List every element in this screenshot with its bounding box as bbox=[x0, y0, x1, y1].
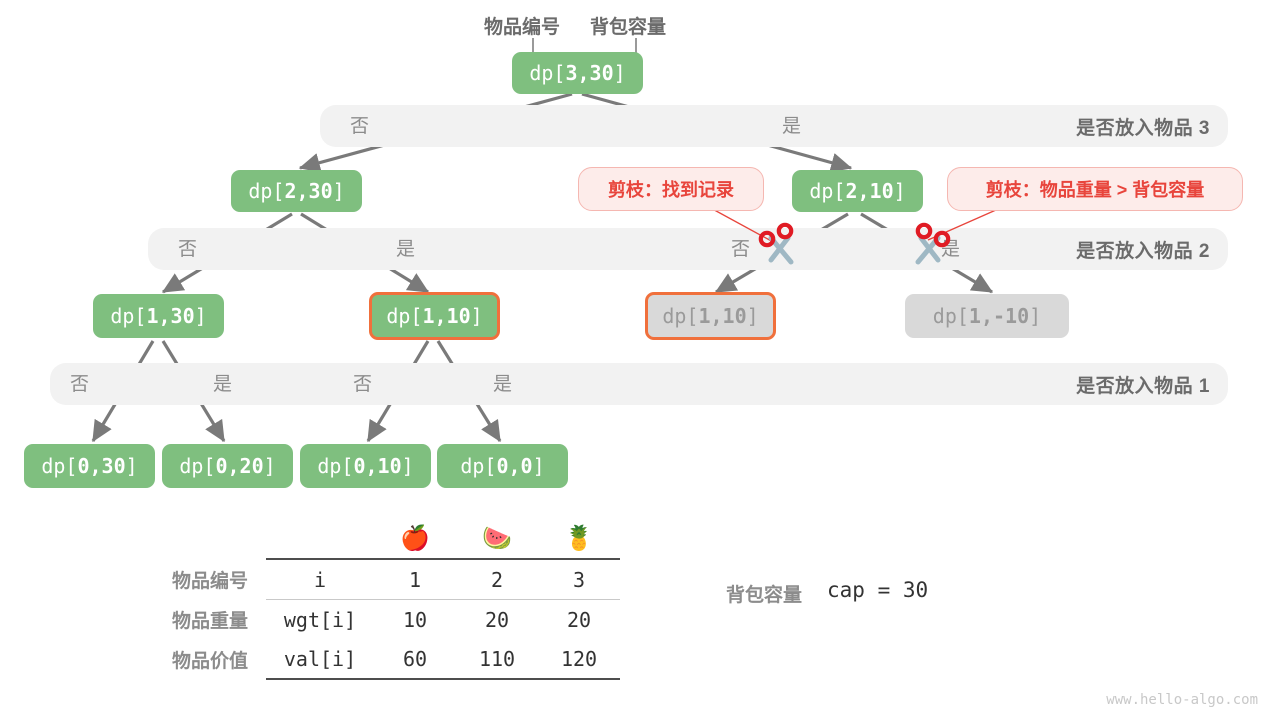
capacity-label: 背包容量 bbox=[726, 580, 802, 607]
node-label: dp[ bbox=[529, 61, 565, 85]
callout-text: 剪枝：物品重量 > 背包容量 bbox=[986, 176, 1205, 202]
node-value: 1,-10 bbox=[969, 304, 1029, 328]
node-dp-0-0[interactable]: dp[0,0] bbox=[437, 444, 568, 488]
node-label-end: ] bbox=[402, 454, 414, 478]
node-label-end: ] bbox=[614, 61, 626, 85]
node-label-end: ] bbox=[264, 454, 276, 478]
branch-label-yes: 是 bbox=[782, 117, 801, 136]
annotation-bag-capacity: 背包容量 bbox=[590, 12, 666, 39]
node-value: 0,30 bbox=[77, 454, 125, 478]
cell: 1 bbox=[374, 559, 456, 600]
branch-label-no: 否 bbox=[70, 375, 89, 394]
callout-text: 剪枝：找到记录 bbox=[608, 176, 734, 202]
node-label-end: ] bbox=[195, 304, 207, 328]
diagram-canvas: 否 是 是否放入物品 3 否 是 否 是 是否放入物品 2 否 是 否 是 是否… bbox=[0, 0, 1280, 720]
scissors-icon-right bbox=[906, 222, 952, 270]
row-header-item-weight: 物品重量 bbox=[172, 600, 266, 640]
node-label: dp[ bbox=[110, 304, 146, 328]
node-label-end: ] bbox=[333, 179, 345, 203]
node-value: 3,30 bbox=[565, 61, 613, 85]
node-label: dp[ bbox=[933, 304, 969, 328]
node-dp-2-10[interactable]: dp[2,10] bbox=[792, 170, 923, 212]
node-label: dp[ bbox=[460, 454, 496, 478]
branch-label-no: 否 bbox=[178, 240, 197, 259]
node-dp-1-10-memo-source[interactable]: dp[1,10] bbox=[369, 292, 500, 340]
node-label: dp[ bbox=[809, 179, 845, 203]
cell: 20 bbox=[456, 600, 538, 640]
node-label-end: ] bbox=[747, 304, 759, 328]
items-table: 🍎 🍉 🍍 物品编号 i 1 2 3 物品重量 wgt[i] 10 20 20 … bbox=[172, 520, 620, 680]
cell: 3 bbox=[538, 559, 620, 600]
level-bar-2: 否 是 否 是 是否放入物品 2 bbox=[148, 228, 1228, 270]
branch-label-yes-2: 是 bbox=[493, 375, 512, 394]
capacity-expression: cap = 30 bbox=[827, 578, 928, 602]
row-header-item-index: 物品编号 bbox=[172, 559, 266, 600]
node-value: 0,10 bbox=[353, 454, 401, 478]
cell: 110 bbox=[456, 639, 538, 679]
node-label-end: ] bbox=[1029, 304, 1041, 328]
branch-label-yes: 是 bbox=[213, 375, 232, 394]
node-value: 1,10 bbox=[422, 304, 470, 328]
node-dp-0-10[interactable]: dp[0,10] bbox=[300, 444, 431, 488]
level-title-1: 是否放入物品 1 bbox=[1076, 371, 1210, 398]
node-value: 0,0 bbox=[496, 454, 532, 478]
node-label: dp[ bbox=[248, 179, 284, 203]
callout-prune-memo: 剪枝：找到记录 bbox=[578, 167, 764, 211]
node-dp-2-30[interactable]: dp[2,30] bbox=[231, 170, 362, 212]
node-label: dp[ bbox=[179, 454, 215, 478]
table-row: 物品重量 wgt[i] 10 20 20 bbox=[172, 600, 620, 640]
cell: 120 bbox=[538, 639, 620, 679]
node-dp-1-30[interactable]: dp[1,30] bbox=[93, 294, 224, 338]
icon-row-spacer bbox=[172, 520, 266, 559]
level-bar-3: 否 是 是否放入物品 3 bbox=[320, 105, 1228, 147]
node-value: 1,10 bbox=[698, 304, 746, 328]
scissors-icon-left bbox=[757, 222, 803, 270]
table-row: 物品价值 val[i] 60 110 120 bbox=[172, 639, 620, 679]
node-label-end: ] bbox=[894, 179, 906, 203]
cell: 10 bbox=[374, 600, 456, 640]
row-key: i bbox=[266, 559, 374, 600]
node-dp-1-10-pruned[interactable]: dp[1,10] bbox=[645, 292, 776, 340]
row-key: wgt[i] bbox=[266, 600, 374, 640]
node-label: dp[ bbox=[41, 454, 77, 478]
node-label-end: ] bbox=[126, 454, 138, 478]
node-label-end: ] bbox=[471, 304, 483, 328]
level-title-3: 是否放入物品 3 bbox=[1076, 113, 1210, 140]
watermelon-icon: 🍉 bbox=[456, 520, 538, 559]
node-value: 1,30 bbox=[146, 304, 194, 328]
branch-label-no-2: 否 bbox=[353, 375, 372, 394]
branch-label-no-2: 否 bbox=[731, 240, 750, 259]
key-column-spacer bbox=[266, 520, 374, 559]
annotation-item-index: 物品编号 bbox=[484, 12, 560, 39]
table-row: 物品编号 i 1 2 3 bbox=[172, 559, 620, 600]
node-value: 2,30 bbox=[284, 179, 332, 203]
cell: 20 bbox=[538, 600, 620, 640]
node-dp-1-minus10-pruned[interactable]: dp[1,-10] bbox=[905, 294, 1069, 338]
table-row-icons: 🍎 🍉 🍍 bbox=[172, 520, 620, 559]
level-title-2: 是否放入物品 2 bbox=[1076, 236, 1210, 263]
pineapple-icon: 🍍 bbox=[538, 520, 620, 559]
row-header-item-value: 物品价值 bbox=[172, 639, 266, 679]
node-label: dp[ bbox=[317, 454, 353, 478]
apple-icon: 🍎 bbox=[374, 520, 456, 559]
watermark: www.hello-algo.com bbox=[1106, 692, 1258, 708]
node-dp-0-30[interactable]: dp[0,30] bbox=[24, 444, 155, 488]
node-value: 2,10 bbox=[845, 179, 893, 203]
node-dp-3-30[interactable]: dp[3,30] bbox=[512, 52, 643, 94]
level-bar-1: 否 是 否 是 是否放入物品 1 bbox=[50, 363, 1228, 405]
node-label-end: ] bbox=[533, 454, 545, 478]
branch-label-yes: 是 bbox=[396, 240, 415, 259]
callout-prune-overflow: 剪枝：物品重量 > 背包容量 bbox=[947, 167, 1243, 211]
node-dp-0-20[interactable]: dp[0,20] bbox=[162, 444, 293, 488]
branch-label-no: 否 bbox=[350, 117, 369, 136]
cell: 2 bbox=[456, 559, 538, 600]
node-value: 0,20 bbox=[215, 454, 263, 478]
row-key: val[i] bbox=[266, 639, 374, 679]
node-label: dp[ bbox=[386, 304, 422, 328]
node-label: dp[ bbox=[662, 304, 698, 328]
cell: 60 bbox=[374, 639, 456, 679]
